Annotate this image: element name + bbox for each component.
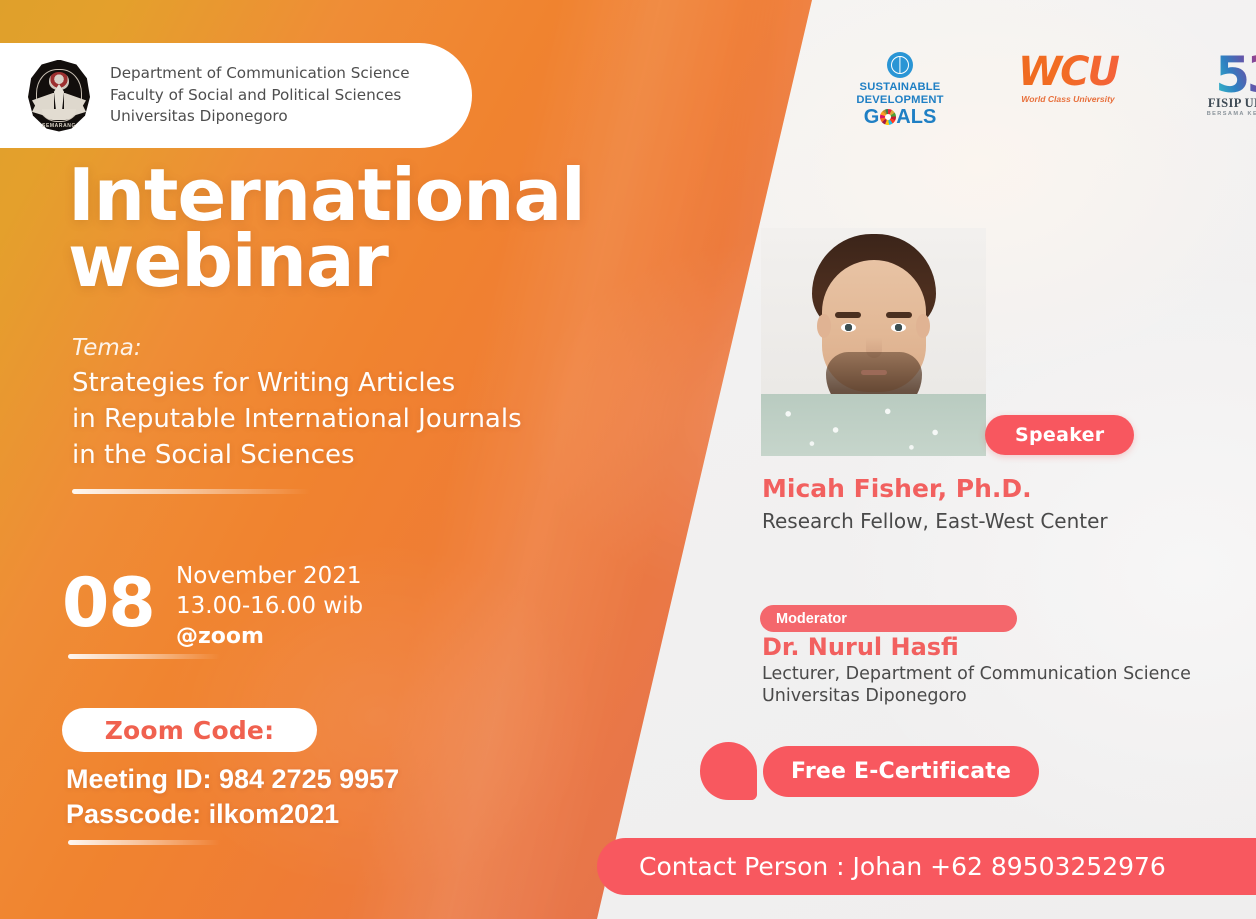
poster-title: International webinar	[68, 162, 585, 294]
wcu-subtitle: World Class University	[1008, 94, 1128, 104]
schedule-month-year: November 2021	[176, 562, 363, 592]
anniversary-tagline: BERSAMA KE DEPAN	[1188, 111, 1256, 117]
anniversary-number: 53	[1188, 52, 1256, 98]
sdg-line-2: DEVELOPMENT	[852, 94, 948, 107]
sdg-goals-word: G ALS	[852, 107, 948, 127]
un-emblem-icon	[887, 52, 913, 78]
sdg-goals-post: ALS	[896, 107, 936, 127]
moderator-role: Lecturer, Department of Communication Sc…	[762, 664, 1191, 708]
schedule-details: November 2021 13.00-16.00 wib @zoom	[176, 562, 363, 651]
webinar-poster: SEMARANG Department of Communication Sci…	[0, 0, 1256, 919]
schedule-platform: @zoom	[176, 623, 363, 652]
certificate-label: Free E-Certificate	[791, 759, 1011, 784]
organization-header: SEMARANG Department of Communication Sci…	[0, 43, 472, 148]
speaker-name: Micah Fisher, Ph.D.	[762, 474, 1032, 503]
organization-text: Department of Communication Science Facu…	[110, 63, 410, 128]
wcu-wordmark: WCU	[1008, 52, 1128, 92]
undip-crest-icon: SEMARANG	[28, 60, 90, 132]
schedule-time: 13.00-16.00 wib	[176, 592, 363, 622]
schedule-day: 08	[62, 570, 155, 638]
theme-line-2: in Reputable International Journals	[72, 402, 522, 438]
sdg-logo: SUSTAINABLE DEVELOPMENT G ALS	[852, 52, 948, 127]
divider-schedule	[68, 654, 220, 659]
anniversary-logo: 53 th FISIP UNDIP BERSAMA KE DEPAN	[1188, 52, 1256, 117]
title-line-2: webinar	[68, 228, 585, 294]
theme-line-3: in the Social Sciences	[72, 438, 522, 474]
moderator-role-line-1: Lecturer, Department of Communication Sc…	[762, 664, 1191, 686]
zoom-code-heading: Zoom Code:	[105, 716, 275, 745]
sdg-line-1: SUSTAINABLE	[852, 81, 948, 94]
theme-label: Tema:	[72, 335, 142, 361]
theme-text: Strategies for Writing Articles in Reput…	[72, 366, 522, 474]
org-line-department: Department of Communication Science	[110, 63, 410, 85]
speaker-badge-label: Speaker	[1015, 424, 1104, 446]
speaker-badge: Speaker	[985, 415, 1134, 455]
divider-theme	[72, 489, 310, 494]
speaker-role: Research Fellow, East-West Center	[762, 509, 1108, 533]
zoom-passcode: Passcode: ilkom2021	[66, 797, 399, 832]
zoom-code-heading-pill: Zoom Code:	[62, 708, 317, 752]
divider-zoom	[68, 840, 220, 845]
org-line-university: Universitas Diponegoro	[110, 106, 410, 128]
zoom-credentials: Meeting ID: 984 2725 9957 Passcode: ilko…	[66, 762, 399, 832]
certificate-decoration-shape	[700, 742, 757, 800]
wcu-logo: WCU World Class University	[1008, 52, 1128, 104]
moderator-role-line-2: Universitas Diponegoro	[762, 686, 1191, 708]
moderator-name: Dr. Nurul Hasfi	[762, 633, 959, 661]
partner-logo-row: SUSTAINABLE DEVELOPMENT G ALS WCU World …	[852, 52, 1256, 127]
speaker-photo	[761, 228, 986, 456]
zoom-meeting-id: Meeting ID: 984 2725 9957	[66, 762, 399, 797]
org-line-faculty: Faculty of Social and Political Sciences	[110, 85, 410, 107]
sdg-goals-pre: G	[864, 107, 880, 127]
certificate-badge: Free E-Certificate	[763, 746, 1039, 797]
theme-line-1: Strategies for Writing Articles	[72, 366, 522, 402]
moderator-badge: Moderator	[760, 605, 1017, 632]
moderator-badge-label: Moderator	[776, 611, 847, 627]
contact-bar: Contact Person : Johan +62 89503252976	[597, 838, 1256, 895]
contact-text: Contact Person : Johan +62 89503252976	[639, 852, 1166, 881]
anniversary-name: FISIP UNDIP	[1188, 96, 1256, 111]
sdg-color-wheel-icon	[880, 109, 896, 125]
